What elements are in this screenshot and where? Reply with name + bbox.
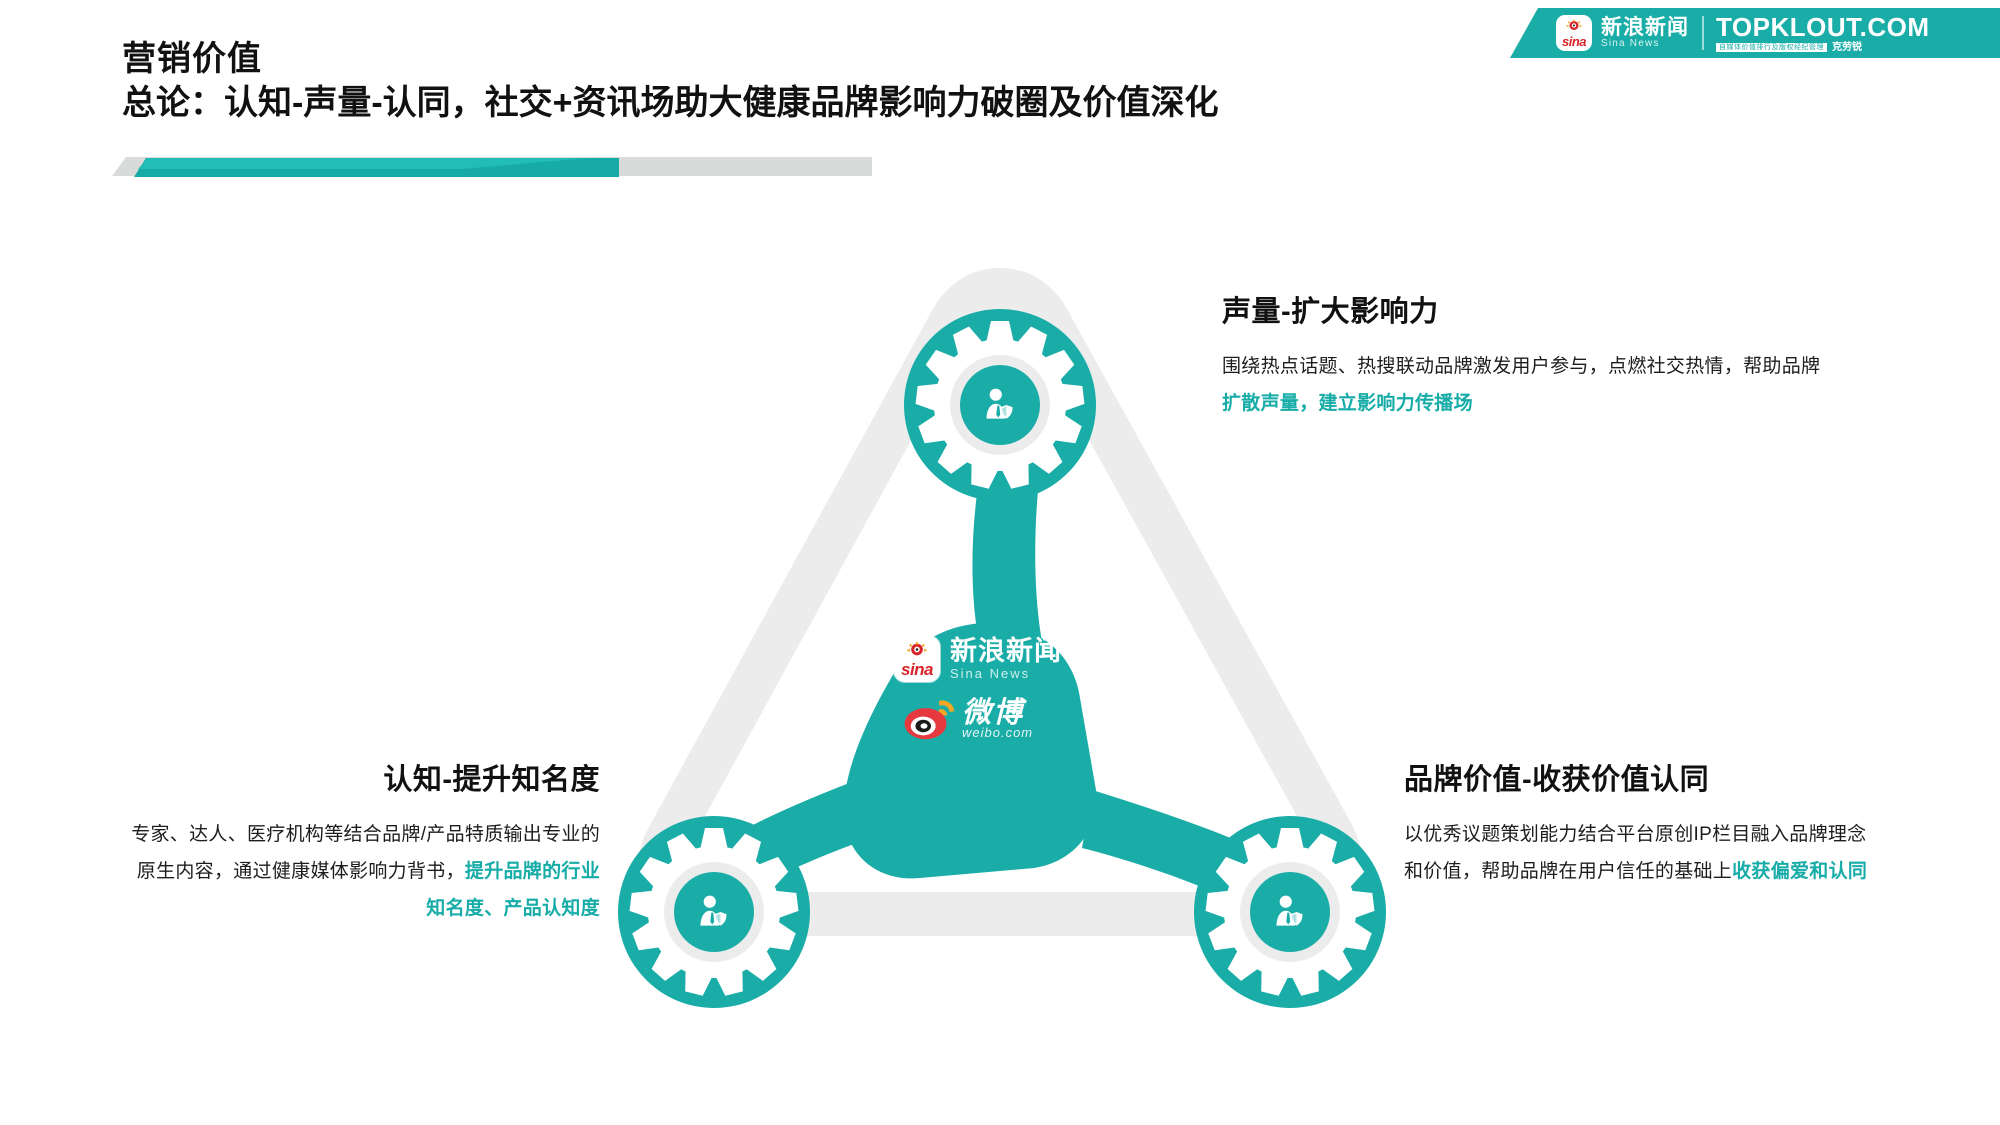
sina-brand-en: Sina News [1601,39,1689,49]
sina-brand-cn: 新浪新闻 [1601,17,1689,38]
body-text-plain: 以优秀议题策划能力结合平台原创IP [1404,824,1712,845]
page-title-line2: 总论：认知-声量-认同，社交+资讯场助大健康品牌影响力破圈及价值深化 [122,83,1482,124]
sina-eye-icon [906,641,928,658]
topklout-brand: TOPKLOUT.COM 自媒体价值排行及版权经纪管理 克劳锐 [1716,14,1930,53]
block-sound-volume: 声量-扩大影响力 围绕热点话题、热搜联动品牌激发用户参与，点燃社交热情，帮助品牌… [1222,295,1822,422]
sina-logo-cn: 新浪新闻 [950,637,1062,665]
title-accent-bar [112,155,872,179]
body-text-highlight: 扩散声量，建立影响力传播场 [1222,393,1473,414]
sina-logo-en: Sina News [950,667,1062,681]
block-sound-volume-body: 围绕热点话题、热搜联动品牌激发用户参与，点燃社交热情，帮助品牌扩散声量，建立影响… [1222,348,1822,422]
node-bottom-right[interactable] [1194,816,1386,1008]
block-sound-volume-title: 声量-扩大影响力 [1222,295,1822,330]
block-awareness-body: 专家、达人、医疗机构等结合品牌/产品特质输出专业的原生内容，通过健康媒体影响力背… [130,816,600,927]
center-logo-stack: sina 新浪新闻 Sina News 微博 weibo.com [882,636,1132,740]
block-brand-value: 品牌价值-收获价值认同 以优秀议题策划能力结合平台原创IP栏目融入品牌理念和价值… [1404,763,1874,890]
body-text-plain: 专家、达人、医疗机构等结合品牌/产品 [131,824,465,845]
body-text-plain: 在用户信任的基础上 [1558,861,1732,882]
sina-wordmark: sina [1562,35,1586,48]
sina-logo-mark: sina [1556,15,1592,51]
brand-divider [1702,16,1704,50]
block-brand-value-title: 品牌价值-收获价值认同 [1404,763,1874,798]
topklout-subrow: 自媒体价值排行及版权经纪管理 克劳锐 [1716,43,1930,53]
weibo-logo: 微博 weibo.com [904,698,1132,740]
node-top[interactable] [904,309,1096,501]
sina-news-logo: sina 新浪新闻 Sina News [894,636,1132,682]
page-title-line1: 营销价值 [122,40,1482,79]
body-text-plain: 围绕热点话题、热搜联动品牌激发用户参与，点 [1222,356,1627,377]
body-text-plain: 燃社交热情，帮助品牌 [1627,356,1820,377]
sina-eye-icon [1566,19,1583,32]
brand-bar: sina 新浪新闻 Sina News TOPKLOUT.COM 自媒体价值排行… [1510,8,2000,58]
weibo-logo-en: weibo.com [962,726,1033,739]
weibo-logo-text: 微博 weibo.com [962,699,1033,740]
sina-wordmark-large: sina [901,661,933,678]
block-awareness-title: 认知-提升知名度 [130,763,600,798]
sina-logo-text: 新浪新闻 Sina News [950,637,1062,681]
node-bottom-left[interactable] [618,816,810,1008]
topklout-cn-name: 克劳锐 [1832,43,1862,53]
sina-logo-mark-large: sina [894,636,940,682]
topklout-tagline: 自媒体价值排行及版权经纪管理 [1716,43,1827,52]
weibo-logo-cn: 微博 [962,699,1033,729]
weibo-eye-icon [904,698,958,740]
body-text-highlight: 收获偏爱和认同 [1732,861,1867,882]
block-brand-value-body: 以优秀议题策划能力结合平台原创IP栏目融入品牌理念和价值，帮助品牌在用户信任的基… [1404,816,1874,890]
block-awareness: 认知-提升知名度 专家、达人、医疗机构等结合品牌/产品特质输出专业的原生内容，通… [130,763,600,927]
page-title: 营销价值 总论：认知-声量-认同，社交+资讯场助大健康品牌影响力破圈及价值深化 [122,40,1482,124]
body-text-plain: 体影响力背书， [330,861,465,882]
sina-brand-names: 新浪新闻 Sina News [1601,17,1689,50]
topklout-wordmark: TOPKLOUT.COM [1716,14,1930,40]
